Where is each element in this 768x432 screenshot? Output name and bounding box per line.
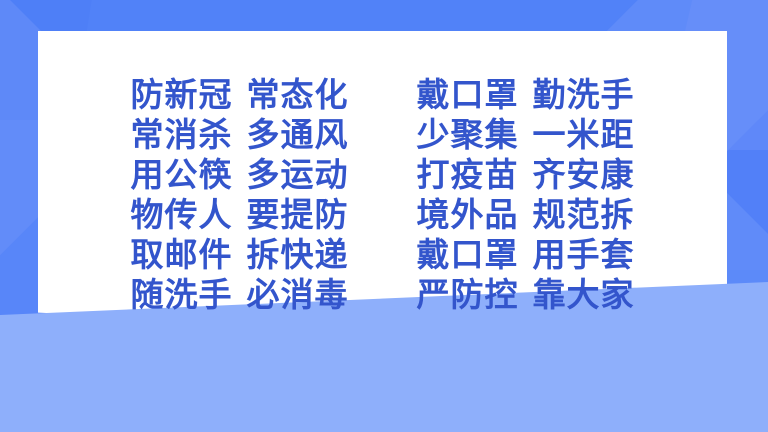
slogan-part-first: 戴口罩 (417, 235, 519, 275)
slogan-line: 严防控靠大家 (417, 275, 635, 315)
left-column: 防新冠常态化 常消杀多通风 用公筷多运动 物传人要提防 取邮件拆快递 随洗手必消… (131, 75, 349, 351)
slogan-line: 戴口罩用手套 (417, 235, 635, 275)
slogan-line: 境外品规范拆 (417, 195, 635, 235)
slogan-part-first: 物传人 (131, 195, 233, 235)
slogan-part-first: 境外品 (417, 195, 519, 235)
slogan-line: 防新冠常态化 (131, 75, 349, 115)
slogan-line: 取邮件拆快递 (131, 235, 349, 275)
slogan-part-first: 常消杀 (131, 115, 233, 155)
slogan-grid: 防新冠常态化 常消杀多通风 用公筷多运动 物传人要提防 取邮件拆快递 随洗手必消… (38, 31, 727, 351)
slogan-part-second: 用手套 (533, 235, 635, 275)
slogan-part-second: 要提防 (247, 195, 349, 235)
right-column: 戴口罩勤洗手 少聚集一米距 打疫苗齐安康 境外品规范拆 戴口罩用手套 严防控靠大… (417, 75, 635, 351)
slogan-part-second: 必消毒 (247, 275, 349, 315)
slogan-part-first: 用公筷 (131, 155, 233, 195)
slogan-line: 打疫苗齐安康 (417, 155, 635, 195)
poster-canvas: 防新冠常态化 常消杀多通风 用公筷多运动 物传人要提防 取邮件拆快递 随洗手必消… (0, 0, 768, 432)
slogan-part-second: 多运动 (247, 155, 349, 195)
slogan-line: 戴口罩勤洗手 (417, 75, 635, 115)
slogan-part-first: 打疫苗 (417, 155, 519, 195)
slogan-part-second: 一米距 (533, 115, 635, 155)
slogan-part-first: 戴口罩 (417, 75, 519, 115)
slogan-part-second: 靠大家 (533, 275, 635, 315)
slogan-part-second: 勤洗手 (533, 75, 635, 115)
slogan-part-first: 取邮件 (131, 235, 233, 275)
slogan-part-second: 多通风 (247, 115, 349, 155)
slogan-line: 物传人要提防 (131, 195, 349, 235)
slogan-line: 随洗手必消毒 (131, 275, 349, 315)
slogan-part-first: 随洗手 (131, 275, 233, 315)
slogan-part-first: 少聚集 (417, 115, 519, 155)
slogan-line: 用公筷多运动 (131, 155, 349, 195)
slogan-line: 少聚集一米距 (417, 115, 635, 155)
slogan-line: 常消杀多通风 (131, 115, 349, 155)
slogan-part-first: 严防控 (417, 275, 519, 315)
slogan-part-second: 拆快递 (247, 235, 349, 275)
slogan-part-first: 防新冠 (131, 75, 233, 115)
slogan-part-second: 规范拆 (533, 195, 635, 235)
slogan-part-second: 常态化 (247, 75, 349, 115)
slogan-part-second: 齐安康 (533, 155, 635, 195)
